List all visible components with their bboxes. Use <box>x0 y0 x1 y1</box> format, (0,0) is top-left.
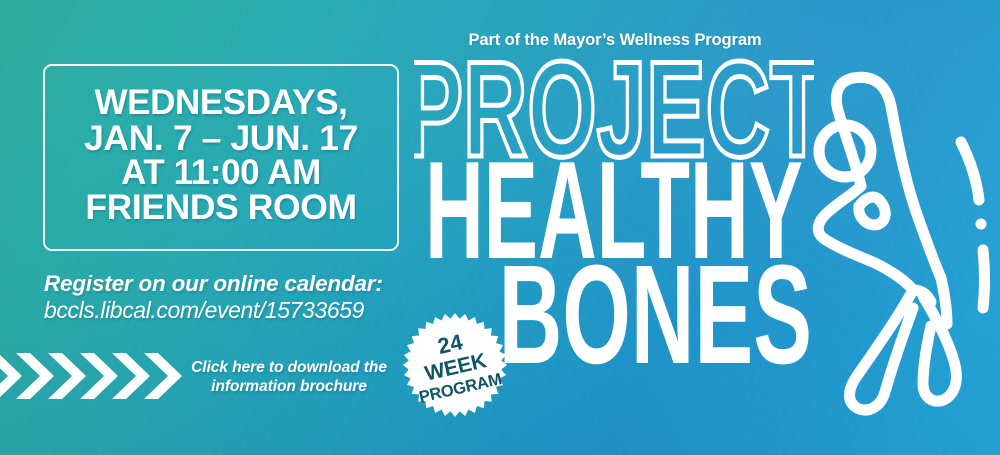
svg-text:BONES: BONES <box>499 255 812 375</box>
register-heading: Register on our online calendar: <box>44 272 424 296</box>
schedule-box: WEDNESDAYS, JAN. 7 – JUN. 17 AT 11:00 AM… <box>43 64 399 251</box>
exercising-person-icon <box>795 58 1000 450</box>
svg-text:HEALTHY: HEALTHY <box>425 152 803 270</box>
schedule-line-day: WEDNESDAYS, <box>95 86 348 120</box>
schedule-line-dates: JAN. 7 – JUN. 17 <box>84 121 358 156</box>
promo-banner: Part of the Mayor’s Wellness Program PRO… <box>0 0 1000 455</box>
brochure-line-1: Click here to download the <box>176 358 402 377</box>
registration-block: Register on our online calendar: bccls.l… <box>44 272 424 324</box>
brochure-line-2: information brochure <box>176 377 402 396</box>
program-tagline: Part of the Mayor’s Wellness Program <box>420 30 810 50</box>
schedule-line-time: AT 11:00 AM <box>121 156 321 190</box>
chevron-right-arrows-icon <box>0 349 194 403</box>
wordmark-line-healthy: HEALTHY <box>414 152 814 270</box>
svg-text:PROJECT: PROJECT <box>414 52 814 168</box>
schedule-line-location: FRIENDS ROOM <box>85 190 356 225</box>
brochure-download-link[interactable]: Click here to download the information b… <box>176 358 402 396</box>
wordmark-line-project: PROJECT <box>414 52 814 168</box>
register-url-link[interactable]: bccls.libcal.com/event/15733659 <box>44 296 424 324</box>
program-duration-badge: 24 WEEK PROGRAM <box>403 313 507 417</box>
